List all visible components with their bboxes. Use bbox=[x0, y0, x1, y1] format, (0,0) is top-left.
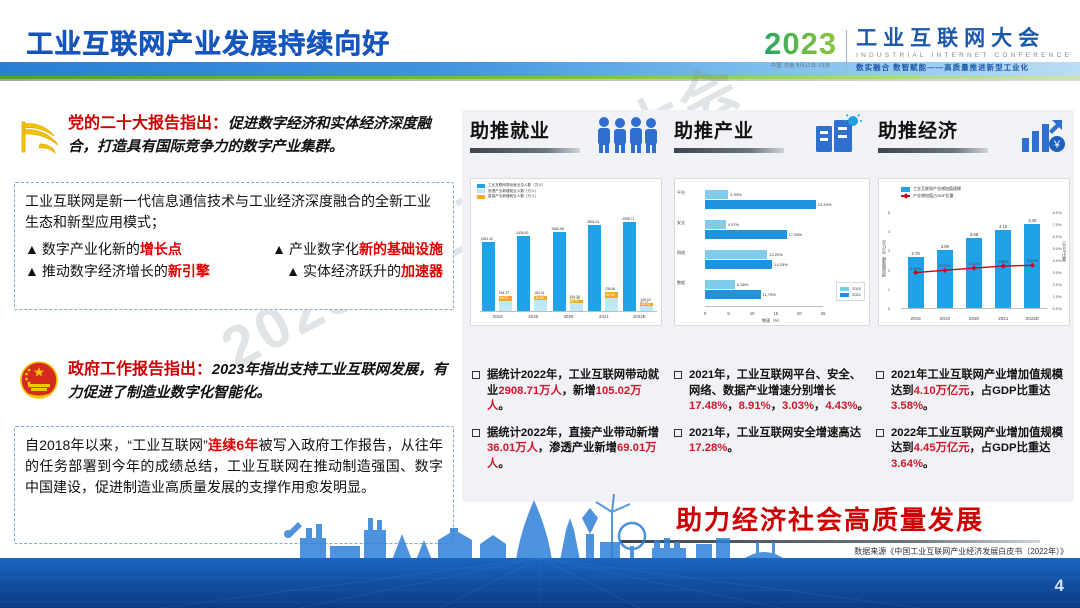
bullet-plain: ，新增 bbox=[562, 385, 596, 397]
y-tick-label-right: 8.0% bbox=[1052, 210, 1061, 215]
x-tick-label: 2022E bbox=[1026, 316, 1039, 321]
chart-block-industry: 助推产业 bbox=[674, 116, 864, 153]
y-tick-label: 2 bbox=[888, 268, 890, 273]
definition-bullet-3-pre: 实体经济跃升的 bbox=[303, 263, 401, 279]
checkbox-square-icon bbox=[876, 429, 884, 437]
legend-label: 直接产业新增就业人数（万人） bbox=[488, 194, 538, 200]
bar-value-label: 2803.44 bbox=[587, 220, 599, 224]
chart-legend-economy: 工业互联网产业增加值规模 产业增加值占GDP比重 bbox=[901, 185, 961, 200]
checkbox-square-icon bbox=[472, 429, 480, 437]
bullet-plain: 。 bbox=[498, 400, 509, 412]
bar-value-label: 2908.71 bbox=[622, 217, 634, 221]
bullet-plain: 。 bbox=[857, 400, 868, 412]
definition-paragraph: 工业互联网是新一代信息通信技术与工业经济深度融合的全新工业生态和新型应用模式； bbox=[25, 191, 443, 233]
legend-item: 2021 bbox=[840, 292, 861, 297]
bullet-highlight: 4.45万亿元 bbox=[914, 442, 970, 454]
party-emblem-icon bbox=[14, 114, 64, 158]
definition-bullet-3: ▲实体经济跃升的加速器 bbox=[286, 261, 443, 283]
bullet-highlight: 3.03% bbox=[782, 400, 814, 412]
bullet-text: 据统计2022年，直接产业带动新增36.01万人，渗透产业新增69.01万人。 bbox=[487, 426, 664, 473]
bullet-highlight: 4.43% bbox=[825, 400, 857, 412]
bar-value-label: 2565.68 bbox=[552, 227, 564, 231]
gov-detail-a: 自2018年以来，“工业互联网” bbox=[25, 437, 208, 453]
y-tick-label-right: 4.0% bbox=[1052, 258, 1061, 263]
y-tick-label: 数据 bbox=[677, 280, 685, 286]
bullet-highlight: 36.01万人 bbox=[487, 442, 538, 454]
chart-x-title: 增速（%） bbox=[675, 318, 869, 324]
bullet-item: 据统计2022年，直接产业带动新增36.01万人，渗透产业新增69.01万人。 bbox=[472, 426, 664, 473]
source-note: 数据来源《中国工业互联网产业经济发展白皮书（2022年）》 bbox=[854, 546, 1068, 557]
bullet-column-3: 2021年工业互联网产业增加值规模达到4.10万亿元，占GDP比重达3.58%。… bbox=[876, 368, 1068, 483]
bullet-plain: 。 bbox=[498, 458, 509, 470]
chart-y-title-left: 增加值规模（万亿元） bbox=[881, 237, 887, 277]
bullet-plain: ， bbox=[727, 400, 738, 412]
bar-total bbox=[588, 225, 601, 311]
bar-2020 bbox=[705, 280, 735, 289]
legend-label: 2020 bbox=[852, 286, 861, 291]
bar-value-label: 238.66 bbox=[605, 287, 615, 291]
conference-logo: 2023 中国·济南 8月11日-13日 工业互联网大会 INDUSTRIAL … bbox=[764, 28, 1072, 73]
x-tick-label: 25 bbox=[821, 311, 826, 316]
definition-bullet-0-hl: 增长点 bbox=[140, 241, 182, 257]
gov-detail-paragraph: 自2018年以来，“工业互联网”连续6年被写入政府工作报告，从往年的任务部署到今… bbox=[25, 435, 443, 498]
y-tick-label: 平台 bbox=[677, 190, 685, 196]
definition-bullet-3-hl: 加速器 bbox=[401, 263, 443, 279]
bullet-highlight: 3.64% bbox=[891, 458, 923, 470]
bar-total bbox=[482, 242, 495, 311]
bullet-item: 2021年，工业互联网平台、安全、网络、数据产业增速分别增长 17.48%，8.… bbox=[674, 368, 870, 415]
y-tick-label: 5 bbox=[888, 210, 890, 215]
bar-value-label: 11.79% bbox=[763, 292, 776, 297]
x-tick-label: 2022E bbox=[633, 314, 646, 319]
logo-slogan: 数实融合 数智赋能——高质量推进新型工业化 bbox=[856, 62, 1072, 73]
bar-2021 bbox=[705, 260, 772, 269]
bar-2021 bbox=[705, 230, 787, 239]
bar-value-label: 14.25% bbox=[774, 262, 788, 267]
checkbox-square-icon bbox=[472, 371, 480, 379]
logo-year: 2023 bbox=[764, 28, 837, 59]
triangle-icon: ▲ bbox=[272, 241, 286, 257]
checkbox-square-icon bbox=[876, 371, 884, 379]
x-tick-label: 2020 bbox=[564, 314, 574, 319]
bullet-column-2: 2021年，工业互联网平台、安全、网络、数据产业增速分别增长 17.48%，8.… bbox=[674, 368, 870, 468]
definition-bullet-1-hl: 新的基础设施 bbox=[359, 241, 443, 257]
y-tick-label-right: 2.0% bbox=[1052, 282, 1061, 287]
x-tick-label: 10 bbox=[750, 311, 755, 316]
bar-total bbox=[553, 232, 566, 311]
chart-employment: 工业互联网带动就业总人数（万人） 渗透产业新增就业人数（万人） 直接产业新增就业… bbox=[470, 178, 662, 326]
chart-x-axis bbox=[901, 308, 1047, 309]
bar-infiltration bbox=[499, 301, 512, 311]
bottom-banner-underline bbox=[620, 540, 1040, 543]
definition-bullet-row-2: ▲推动数字经济增长的新引擎 ▲实体经济跃升的加速器 bbox=[25, 261, 443, 283]
party-report-block: 党的二十大报告指出：促进数字经济和实体经济深度融合，打造具有国际竞争力的数字产业… bbox=[14, 112, 454, 158]
y-tick-label: 1 bbox=[888, 287, 890, 292]
party-report-text: 党的二十大报告指出：促进数字经济和实体经济深度融合，打造具有国际竞争力的数字产业… bbox=[68, 112, 454, 158]
chart-plot-area: 2.703.04%3.093.22%3.683.41%4.103.58%4.45… bbox=[901, 213, 1047, 309]
gov-detail-highlight: 连续6年 bbox=[208, 437, 259, 453]
bar-value-label: 4.93% bbox=[730, 192, 741, 197]
bullet-item: 2021年工业互联网产业增加值规模达到4.10万亿元，占GDP比重达3.58%。 bbox=[876, 368, 1068, 415]
checkbox-square-icon bbox=[674, 371, 682, 379]
bullet-text: 2021年工业互联网产业增加值规模达到4.10万亿元，占GDP比重达3.58%。 bbox=[891, 368, 1068, 415]
charts-panel: 助推就业 bbox=[462, 110, 1074, 502]
gov-detail-box: 自2018年以来，“工业互联网”连续6年被写入政府工作报告，从往年的任务部署到今… bbox=[14, 426, 454, 544]
party-report-heading: 党的二十大报告指出： bbox=[68, 115, 228, 132]
definition-bullet-1: ▲产业数字化新的基础设施 bbox=[272, 239, 443, 261]
chart-plot-area: 2261.42130.44164.3764.372436.82140.66184… bbox=[480, 213, 657, 311]
x-tick-label: 0 bbox=[704, 311, 706, 316]
page-number: 4 bbox=[1055, 576, 1064, 596]
bullet-plain: 。 bbox=[727, 442, 738, 454]
bullet-plain: ，渗透产业新增 bbox=[538, 442, 617, 454]
bar-infiltration bbox=[534, 300, 547, 311]
bar-value-label: 36.01 bbox=[641, 302, 650, 306]
definition-bullet-2-pre: 推动数字经济增长的 bbox=[42, 263, 168, 279]
page-title: 工业互联网产业发展持续向好 bbox=[26, 22, 390, 61]
bullet-text: 据统计2022年，工业互联网带动就业2908.71万人，新增105.02万人。 bbox=[487, 368, 664, 415]
bullet-plain: 。 bbox=[923, 400, 934, 412]
definition-bullet-row-1: ▲数字产业化新的增长点 ▲产业数字化新的基础设施 bbox=[25, 239, 443, 261]
legend-item: 直接产业新增就业人数（万人） bbox=[477, 194, 546, 200]
bar-value-label: 105.02 bbox=[640, 298, 650, 302]
y-tick-label-right: 6.0% bbox=[1052, 234, 1061, 239]
chart-block-employment: 助推就业 bbox=[470, 116, 660, 153]
bar-value-label: 23.49% bbox=[818, 202, 832, 207]
y-tick-label-right: 1.0% bbox=[1052, 294, 1061, 299]
chart-economy: 工业互联网产业增加值规模 产业增加值占GDP比重 2.703.04%3.093.… bbox=[878, 178, 1070, 326]
svg-text:￥: ￥ bbox=[1052, 140, 1062, 151]
bar-2020 bbox=[705, 190, 728, 199]
x-tick-label: 2019 bbox=[940, 316, 950, 321]
logo-year-sub: 中国·济南 8月11日-13日 bbox=[764, 62, 837, 69]
chart-plot-area: 4.93%23.49%4.37%17.28%13.20%14.25%6.36%1… bbox=[705, 187, 823, 307]
bullet-highlight: 3.58% bbox=[891, 400, 923, 412]
bar-value-label: 17.28% bbox=[789, 232, 803, 237]
bar-value-label: 2261.42 bbox=[481, 237, 493, 241]
bar-value-label: 48.56 bbox=[535, 296, 544, 300]
chart-x-axis bbox=[705, 306, 823, 307]
bar-2021 bbox=[705, 200, 816, 209]
y-tick-label-right: 3.0% bbox=[1052, 270, 1061, 275]
bar-total bbox=[517, 236, 530, 311]
chart-legend-industry: 2020 2021 bbox=[836, 282, 865, 301]
bar-2021 bbox=[705, 290, 761, 299]
definition-bullet-2: ▲推动数字经济增长的新引擎 bbox=[25, 261, 210, 283]
gov-report-heading: 政府工作报告指出： bbox=[68, 361, 212, 378]
bar-2020 bbox=[705, 250, 767, 259]
growth-bar-arrow-icon: ￥ bbox=[1016, 114, 1068, 161]
x-tick-label: 5 bbox=[727, 311, 729, 316]
y-tick-label: 0 bbox=[888, 306, 890, 311]
legend-item: 产业增加值占GDP比重 bbox=[901, 193, 961, 199]
chart-underline bbox=[470, 148, 580, 153]
line-series-gdp-share bbox=[901, 213, 1047, 309]
bullet-item: 据统计2022年，工业互联网带动就业2908.71万人，新增105.02万人。 bbox=[472, 368, 664, 415]
bullet-column-1: 据统计2022年，工业互联网带动就业2908.71万人，新增105.02万人。据… bbox=[472, 368, 664, 483]
legend-item: 2020 bbox=[840, 286, 861, 291]
bar-value-label: 13.20% bbox=[769, 252, 783, 257]
bar-value-label: 44.51 bbox=[571, 299, 580, 303]
bullet-plain: 。 bbox=[923, 458, 934, 470]
x-tick-label: 2021 bbox=[599, 314, 609, 319]
y-tick-label: 网络 bbox=[677, 250, 685, 256]
triangle-icon: ▲ bbox=[25, 241, 39, 257]
bar-infiltration bbox=[605, 298, 618, 311]
bullet-text: 2021年，工业互联网安全增速高达17.28%。 bbox=[689, 426, 870, 457]
chart-underline bbox=[878, 148, 988, 153]
chart-legend-employment: 工业互联网带动就业总人数（万人） 渗透产业新增就业人数（万人） 直接产业新增就业… bbox=[477, 183, 546, 200]
chart-block-economy: 助推经济 ￥ 工业互联网产业增加值规模 bbox=[878, 116, 1068, 153]
combo-bar-line-chart: 工业互联网产业增加值规模 产业增加值占GDP比重 2.703.04%3.093.… bbox=[879, 179, 1069, 325]
bar-value-label: 82.08 bbox=[606, 293, 615, 297]
bar-value-label: 154.36 bbox=[570, 295, 580, 299]
legend-item: 工业互联网产业增加值规模 bbox=[901, 186, 961, 192]
definition-bullet-1-pre: 产业数字化 bbox=[289, 241, 359, 257]
bullet-highlight: 17.48% bbox=[689, 400, 727, 412]
bullet-plain: 2021年，工业互联网安全增速高达 bbox=[689, 427, 861, 439]
x-tick-label: 15 bbox=[773, 311, 778, 316]
bullet-highlight: 2908.71万人 bbox=[498, 385, 561, 397]
bar-value-label: 2436.82 bbox=[516, 231, 528, 235]
bullet-text: 2022年工业互联网产业增加值规模达到4.45万亿元，占GDP比重达3.64%。 bbox=[891, 426, 1068, 473]
factory-building-icon bbox=[810, 114, 864, 161]
definition-box: 工业互联网是新一代信息通信技术与工业经济深度融合的全新工业生态和新型应用模式； … bbox=[14, 182, 454, 310]
triangle-icon: ▲ bbox=[286, 263, 300, 279]
definition-bullet-0: ▲数字产业化新的增长点 bbox=[25, 239, 182, 261]
logo-en-name: INDUSTRIAL INTERNET CONFERENCE bbox=[856, 52, 1072, 59]
horizontal-bar-chart: 4.93%23.49%4.37%17.28%13.20%14.25%6.36%1… bbox=[675, 179, 869, 325]
bar-2020 bbox=[705, 220, 726, 229]
chart-underline bbox=[674, 148, 784, 153]
bottom-banner: 助力经济社会高质量发展 bbox=[620, 500, 1040, 543]
slide-root: 工业互联网产业发展持续向好 2023 中国·济南 8月11日-13日 工业互联网… bbox=[0, 0, 1080, 608]
chart-y-title-right: 占GDP比重 bbox=[1061, 241, 1067, 262]
x-tick-label: 2018 bbox=[493, 314, 503, 319]
bottom-banner-text: 助力经济社会高质量发展 bbox=[620, 500, 1040, 537]
grouped-column-chart: 工业互联网带动就业总人数（万人） 渗透产业新增就业人数（万人） 直接产业新增就业… bbox=[471, 179, 661, 325]
bullet-plain: ，占GDP比重达 bbox=[970, 385, 1051, 397]
x-tick-label: 20 bbox=[797, 311, 802, 316]
national-emblem-icon bbox=[14, 358, 64, 406]
bar-value-label: 164.37 bbox=[499, 291, 509, 295]
bottom-blue-band: 4 bbox=[0, 558, 1080, 608]
gov-report-text: 政府工作报告指出：2023年指出支持工业互联网发展，有力促进了制造业数字化智能化… bbox=[68, 358, 454, 404]
logo-cn-name: 工业互联网大会 bbox=[856, 28, 1072, 49]
bar-total bbox=[623, 222, 636, 311]
triangle-icon: ▲ bbox=[25, 263, 39, 279]
bullet-item: 2021年，工业互联网安全增速高达17.28%。 bbox=[674, 426, 870, 457]
y-tick-label-right: 0.0% bbox=[1052, 306, 1061, 311]
gov-report-block: 政府工作报告指出：2023年指出支持工业互联网发展，有力促进了制造业数字化智能化… bbox=[14, 358, 454, 406]
bottom-grid-lines bbox=[0, 558, 1080, 608]
legend-label: 工业互联网产业增加值规模 bbox=[913, 186, 961, 192]
definition-bullet-2-hl: 新引擎 bbox=[168, 263, 210, 279]
bullet-highlight: 17.28% bbox=[689, 442, 727, 454]
y-tick-label: 4 bbox=[888, 229, 890, 234]
bullet-plain: 2021年，工业互联网平台、安全、网络、数据产业增速分别增长 bbox=[689, 369, 861, 397]
bullet-plain: 据统计2022年，直接产业带动新增 bbox=[487, 427, 659, 439]
bullet-text: 2021年，工业互联网平台、安全、网络、数据产业增速分别增长 17.48%，8.… bbox=[689, 368, 870, 415]
chart-industry: 4.93%23.49%4.37%17.28%13.20%14.25%6.36%1… bbox=[674, 178, 870, 326]
y-tick-label: 3 bbox=[888, 248, 890, 253]
bullet-plain: ， bbox=[771, 400, 782, 412]
legend-label: 2021 bbox=[852, 292, 861, 297]
bar-value-label: 184.41 bbox=[534, 291, 544, 295]
bullet-highlight: 8.91% bbox=[739, 400, 771, 412]
bullet-plain: ，占GDP比重达 bbox=[970, 442, 1051, 454]
checkbox-square-icon bbox=[674, 429, 682, 437]
x-tick-label: 2018 bbox=[910, 316, 920, 321]
y-tick-label: 安全 bbox=[677, 220, 685, 226]
x-tick-label: 2020 bbox=[969, 316, 979, 321]
bar-infiltration bbox=[570, 303, 583, 311]
bullet-plain: ， bbox=[814, 400, 825, 412]
people-group-icon bbox=[594, 114, 660, 159]
chart-x-axis: 20182019202020212022E bbox=[480, 311, 657, 325]
bullet-item: 2022年工业互联网产业增加值规模达到4.45万亿元，占GDP比重达3.64%。 bbox=[876, 426, 1068, 473]
x-tick-label: 2021 bbox=[998, 316, 1008, 321]
definition-bullet-0-pre: 数字产业化新的 bbox=[42, 241, 140, 257]
header-grey-line bbox=[0, 79, 1080, 81]
bar-value-label: 4.37% bbox=[728, 222, 739, 227]
legend-label: 产业增加值占GDP比重 bbox=[913, 193, 954, 199]
bullet-highlight: 4.10万亿元 bbox=[914, 385, 970, 397]
bar-value-label: 6.36% bbox=[737, 282, 748, 287]
x-tick-label: 2019 bbox=[528, 314, 538, 319]
y-tick-label-right: 7.0% bbox=[1052, 222, 1061, 227]
y-tick-label-right: 5.0% bbox=[1052, 246, 1061, 251]
bar-value-label: 64.37 bbox=[500, 296, 509, 300]
